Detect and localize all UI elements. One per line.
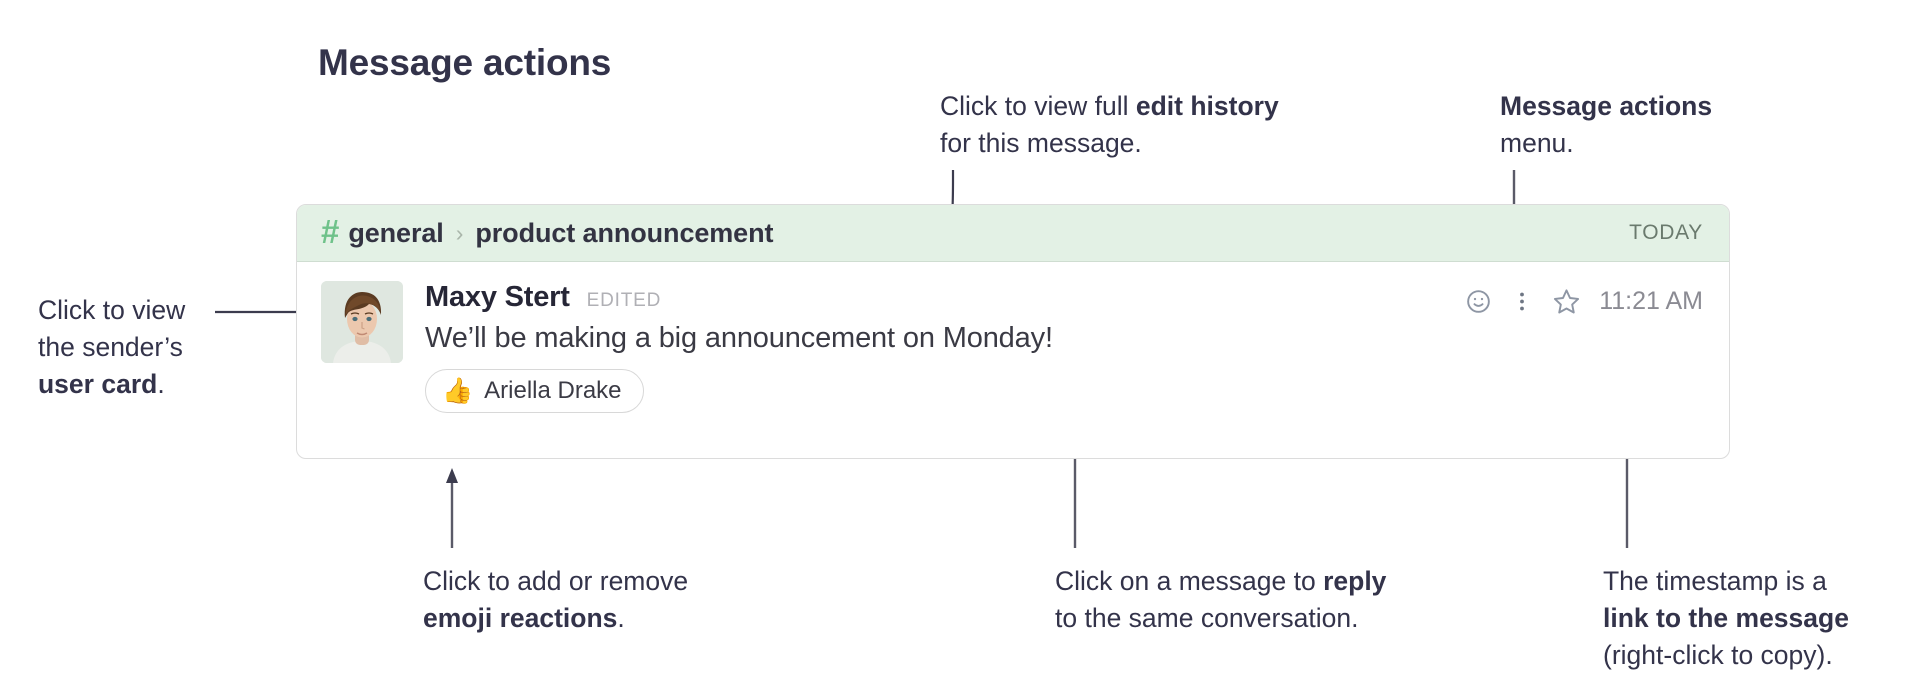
reaction-label: Ariella Drake — [484, 377, 621, 405]
topic-name-link[interactable]: product announcement — [475, 218, 773, 249]
annotation-edit-history: Click to view full edit history for this… — [940, 88, 1279, 162]
stream-name-link[interactable]: general — [348, 218, 443, 249]
thumbs-up-icon: 👍 — [442, 379, 473, 404]
annotation-emoji-reactions-line1: Click to add or remove — [423, 563, 688, 600]
annotation-actions-menu: Message actions menu. — [1500, 88, 1712, 162]
sender-line: Maxy Stert EDITED — [425, 281, 1456, 315]
annotation-edit-history-line1-strong: edit history — [1136, 91, 1279, 121]
date-label: TODAY — [1629, 221, 1703, 245]
annotation-user-card-line3-strong: user card — [38, 369, 157, 399]
annotation-reply-line1: Click on a message to reply — [1055, 563, 1386, 600]
annotation-user-card-line2: the sender’s — [38, 329, 185, 366]
annotation-user-card-line3: user card. — [38, 366, 185, 403]
avatar-photo — [321, 281, 403, 363]
smiley-face-icon — [1465, 288, 1492, 315]
annotation-edit-history-line2: for this message. — [940, 125, 1279, 162]
annotation-edit-history-line1-prefix: Click to view full — [940, 91, 1136, 121]
sender-name[interactable]: Maxy Stert — [425, 281, 570, 314]
annotation-timestamp-line2: link to the message — [1603, 600, 1849, 637]
stream-topic-header[interactable]: # general › product announcement TODAY — [297, 205, 1729, 262]
vertical-ellipsis-icon — [1510, 288, 1534, 315]
leader-emoji-reactions — [446, 468, 458, 548]
message-text[interactable]: We’ll be making a big announcement on Mo… — [425, 322, 1456, 355]
annotation-user-card-line1: Click to view — [38, 292, 185, 329]
star-button[interactable] — [1544, 283, 1588, 319]
star-icon — [1552, 287, 1581, 316]
annotation-timestamp: The timestamp is a link to the message (… — [1603, 563, 1849, 674]
message-timestamp-link[interactable]: 11:21 AM — [1599, 283, 1703, 319]
annotation-emoji-reactions-line2-strong: emoji reactions — [423, 603, 617, 633]
annotation-reply-line2: to the same conversation. — [1055, 600, 1386, 637]
message-body[interactable]: Maxy Stert EDITED We’ll be making a big … — [403, 281, 1456, 413]
annotation-emoji-reactions: Click to add or remove emoji reactions. — [423, 563, 688, 637]
page-title: Message actions — [318, 42, 611, 84]
annotation-actions-menu-line2: menu. — [1500, 125, 1712, 162]
edited-marker[interactable]: EDITED — [587, 290, 661, 312]
message-card: # general › product announcement TODAY — [296, 204, 1730, 459]
message-row[interactable]: Maxy Stert EDITED We’ll be making a big … — [297, 262, 1729, 413]
message-actions-icon[interactable] — [1500, 283, 1544, 319]
annotation-reply-line1-prefix: Click on a message to — [1055, 566, 1323, 596]
annotation-user-card-line3-suffix: . — [157, 369, 164, 399]
annotation-timestamp-line1: The timestamp is a — [1603, 563, 1849, 600]
annotation-timestamp-line2-strong: link to the message — [1603, 603, 1849, 633]
annotation-reply: Click on a message to reply to the same … — [1055, 563, 1386, 637]
annotation-emoji-reactions-line2: emoji reactions. — [423, 600, 688, 637]
hash-icon: # — [321, 215, 339, 248]
reaction-row: 👍 Ariella Drake — [425, 369, 1456, 413]
annotation-actions-menu-line1-strong: Message actions — [1500, 91, 1712, 121]
annotation-user-card: Click to view the sender’s user card. — [38, 292, 185, 403]
chevron-right-icon: › — [456, 220, 464, 247]
annotation-timestamp-line3: (right-click to copy). — [1603, 637, 1849, 674]
message-controls: 11:21 AM — [1456, 281, 1703, 413]
annotation-reply-line1-strong: reply — [1323, 566, 1386, 596]
annotation-emoji-reactions-line2-suffix: . — [617, 603, 624, 633]
avatar[interactable] — [321, 281, 403, 363]
emoji-reaction-icon[interactable] — [1456, 283, 1500, 319]
annotation-edit-history-line1: Click to view full edit history — [940, 88, 1279, 125]
annotation-actions-menu-line1: Message actions — [1500, 88, 1712, 125]
reaction-pill[interactable]: 👍 Ariella Drake — [425, 369, 644, 413]
